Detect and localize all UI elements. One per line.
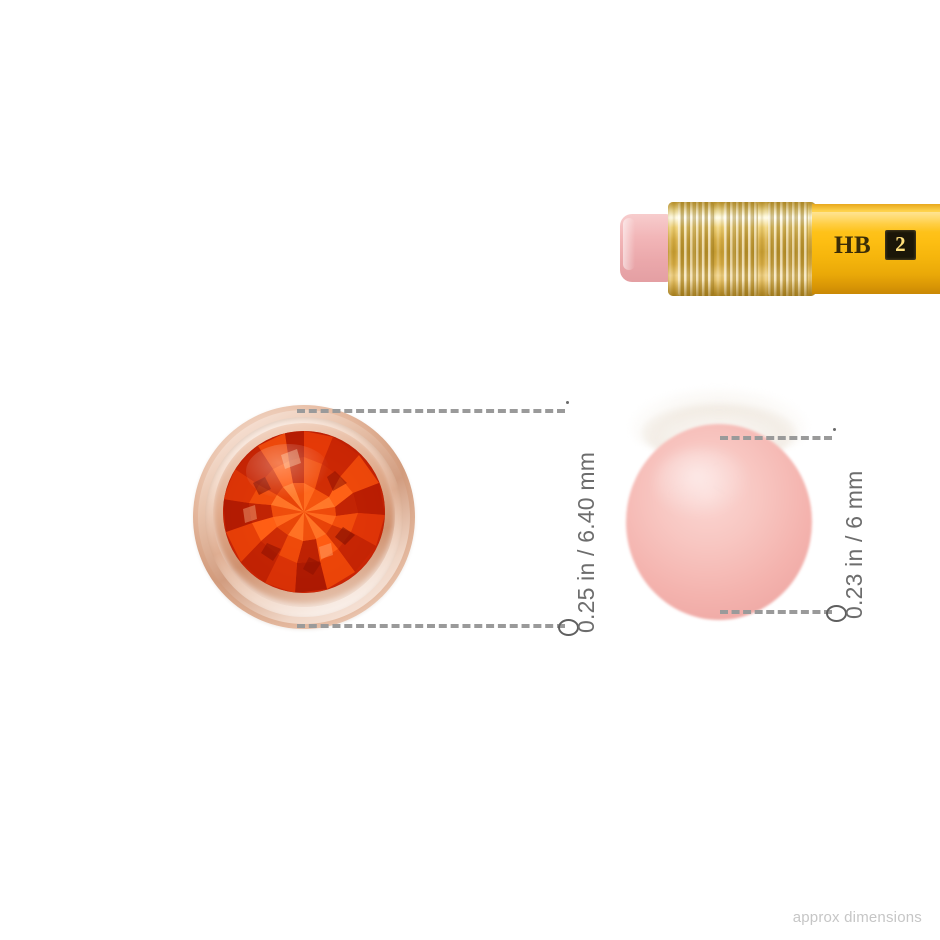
reference-pencil: HB 2 — [620, 196, 940, 300]
comparison-eraser-end — [616, 388, 824, 636]
eraser-dimension-line-bottom — [720, 610, 832, 614]
gem-dimension-tick-top — [566, 401, 569, 404]
eraser-sheen — [654, 448, 750, 518]
eraser-dimension-tick-top — [833, 428, 836, 431]
pencil-eraser-highlight — [623, 218, 635, 270]
eraser-dimension-line-top — [720, 436, 832, 440]
gem-dimension-line-bottom — [297, 624, 565, 628]
gemstone-facets — [223, 431, 385, 593]
size-comparison-canvas: HB 2 — [0, 0, 940, 940]
gemstone-facet-svg — [223, 431, 385, 593]
pencil-grade-letters: HB — [834, 233, 871, 258]
gem-dimension-label: 0.25 in / 6.40 mm — [573, 452, 600, 633]
pencil-grade-number-box: 2 — [885, 230, 916, 260]
pencil-grade-marking: HB 2 — [834, 230, 916, 260]
pencil-ferrule — [668, 202, 816, 296]
approx-dimensions-note: approx dimensions — [793, 909, 922, 926]
product-gemstone-bezel — [193, 405, 415, 629]
ferrule-top-shading — [668, 202, 816, 216]
eraser-dimension-label: 0.23 in / 6 mm — [841, 470, 868, 619]
gem-dimension-line-top — [297, 409, 565, 413]
ferrule-bottom-shading — [668, 280, 816, 296]
pencil-body-highlight — [812, 212, 940, 232]
